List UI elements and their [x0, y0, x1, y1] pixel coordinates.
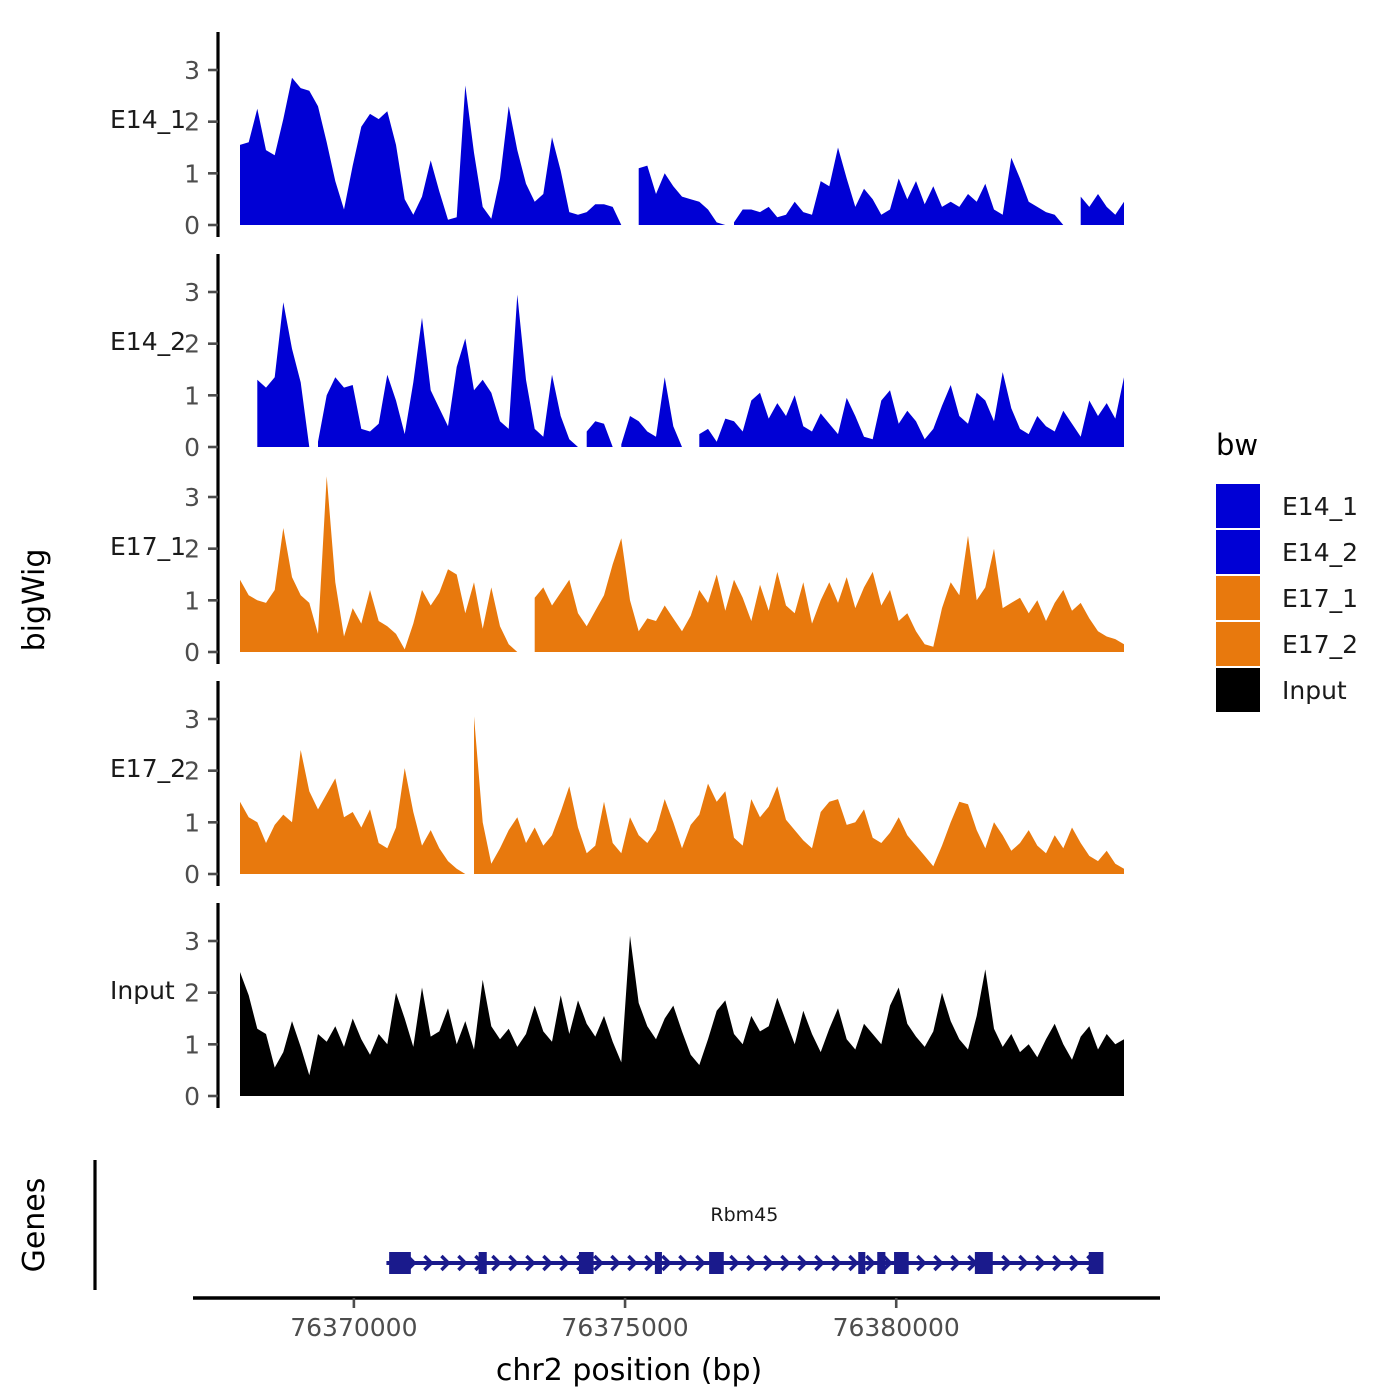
- x-tick-label: 76370000: [290, 1313, 417, 1342]
- y-tick-label: 0: [184, 1082, 200, 1111]
- legend-label-e17_2: E17_2: [1282, 630, 1358, 659]
- y-tick-label: 2: [184, 757, 200, 786]
- track-area-e17_1: [240, 476, 1124, 652]
- y-tick-label: 3: [184, 278, 200, 307]
- legend-item-e17_2[interactable]: E17_2: [1216, 622, 1358, 666]
- track-panel-e17_1: 0123E17_1: [110, 459, 1124, 667]
- gene-exon-block: [894, 1252, 909, 1274]
- genes-axis-title: Genes: [17, 1178, 52, 1273]
- y-tick-label: 3: [184, 56, 200, 85]
- y-tick-label: 2: [184, 108, 200, 137]
- gene-exon-block: [389, 1252, 411, 1274]
- track-label-input: Input: [110, 976, 175, 1005]
- gene-exon-block: [1089, 1252, 1104, 1274]
- gene-exon-block: [655, 1252, 662, 1274]
- legend-title: bw: [1216, 428, 1258, 462]
- genes-panel: Rbm45: [95, 1160, 1103, 1290]
- y-tick-label: 1: [184, 808, 200, 837]
- track-panel-e14_1: 0123E14_1: [110, 32, 1124, 240]
- gene-label-rbm45: Rbm45: [710, 1204, 778, 1226]
- figure-root: 0123E14_10123E14_20123E17_10123E17_20123…: [0, 0, 1400, 1400]
- y-tick-label: 0: [184, 433, 200, 462]
- track-panel-e14_2: 0123E14_2: [110, 254, 1124, 462]
- legend-item-input[interactable]: Input: [1216, 668, 1347, 712]
- gene-exon-block: [877, 1252, 885, 1274]
- y-tick-label: 1: [184, 159, 200, 188]
- gene-exon-block: [975, 1252, 993, 1274]
- legend-label-e14_1: E14_1: [1282, 492, 1358, 521]
- y-tick-label: 0: [184, 211, 200, 240]
- y-tick-label: 0: [184, 860, 200, 889]
- track-area-input: [240, 936, 1124, 1096]
- legend-label-e14_2: E14_2: [1282, 538, 1358, 567]
- y-tick-label: 2: [184, 535, 200, 564]
- genome-browser-figure: 0123E14_10123E14_20123E17_10123E17_20123…: [0, 0, 1400, 1400]
- track-label-e17_1: E17_1: [110, 532, 186, 561]
- legend-swatch-e17_2: [1216, 622, 1260, 666]
- y-tick-label: 3: [184, 705, 200, 734]
- track-label-e14_2: E14_2: [110, 327, 186, 356]
- legend-swatch-e17_1: [1216, 576, 1260, 620]
- legend-item-e14_1[interactable]: E14_1: [1216, 484, 1358, 528]
- y-tick-label: 2: [184, 330, 200, 359]
- y-tick-label: 0: [184, 638, 200, 667]
- y-tick-label: 3: [184, 483, 200, 512]
- track-area-e14_2: [257, 295, 1124, 447]
- x-tick-label: 76380000: [833, 1313, 960, 1342]
- track-label-e14_1: E14_1: [110, 105, 186, 134]
- legend-item-e14_2[interactable]: E14_2: [1216, 530, 1358, 574]
- track-area-e17_2: [240, 716, 1124, 874]
- legend-item-e17_1[interactable]: E17_1: [1216, 576, 1358, 620]
- y-tick-label: 3: [184, 927, 200, 956]
- x-axis-title: chr2 position (bp): [496, 1353, 762, 1388]
- legend-swatch-input: [1216, 668, 1260, 712]
- y-tick-label: 2: [184, 979, 200, 1008]
- y-axis-title: bigWig: [17, 549, 52, 652]
- y-tick-label: 1: [184, 1030, 200, 1059]
- y-tick-label: 1: [184, 381, 200, 410]
- x-tick-label: 76375000: [561, 1313, 688, 1342]
- track-label-e17_2: E17_2: [110, 754, 186, 783]
- gene-exon-block: [858, 1252, 865, 1274]
- gene-exon-block: [709, 1252, 724, 1274]
- legend-label-e17_1: E17_1: [1282, 584, 1358, 613]
- track-panel-e17_2: 0123E17_2: [110, 681, 1124, 889]
- legend-swatch-e14_2: [1216, 530, 1260, 574]
- track-area-e14_1: [240, 78, 1124, 225]
- y-tick-label: 1: [184, 586, 200, 615]
- legend-swatch-e14_1: [1216, 484, 1260, 528]
- legend-label-input: Input: [1282, 676, 1347, 705]
- gene-exon-block: [579, 1252, 594, 1274]
- gene-exon-block: [479, 1252, 487, 1274]
- track-panel-input: 0123Input: [110, 903, 1124, 1111]
